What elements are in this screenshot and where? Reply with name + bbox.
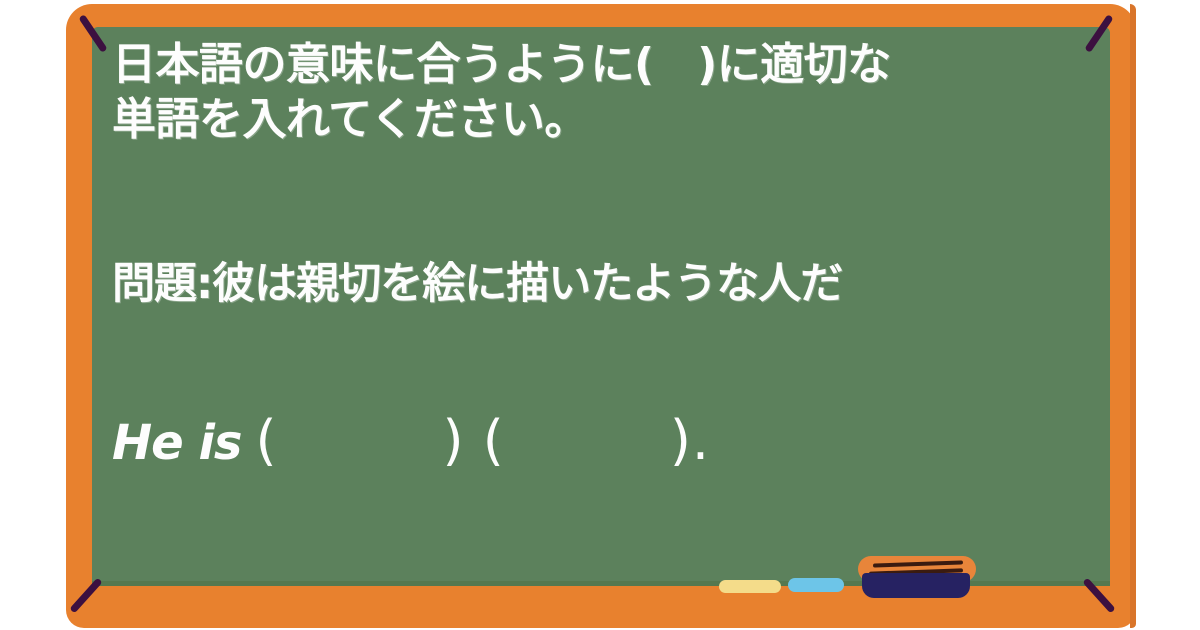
- chalkboard-scene: 日本語の意味に合うように( )に適切な 単語を入れてください。 問題:彼は親切を…: [0, 0, 1200, 630]
- chalk-yellow: [719, 580, 781, 593]
- answer-blanks-text: ( ) ( ).: [255, 396, 710, 475]
- instruction-text: 日本語の意味に合うように( )に適切な 単語を入れてください。: [112, 38, 1052, 147]
- answer-line: He is ( ) ( ).: [112, 396, 710, 475]
- board-text-area: 日本語の意味に合うように( )に適切な 単語を入れてください。 問題:彼は親切を…: [112, 38, 1052, 147]
- chalk-blue: [788, 578, 844, 592]
- blackboard-eraser: [858, 556, 976, 598]
- answer-lead-text: He is: [112, 415, 241, 471]
- question-text: 問題:彼は親切を絵に描いたような人だ: [112, 258, 842, 311]
- frame-right-shadow: [1130, 4, 1136, 628]
- eraser-felt-body: [862, 573, 970, 598]
